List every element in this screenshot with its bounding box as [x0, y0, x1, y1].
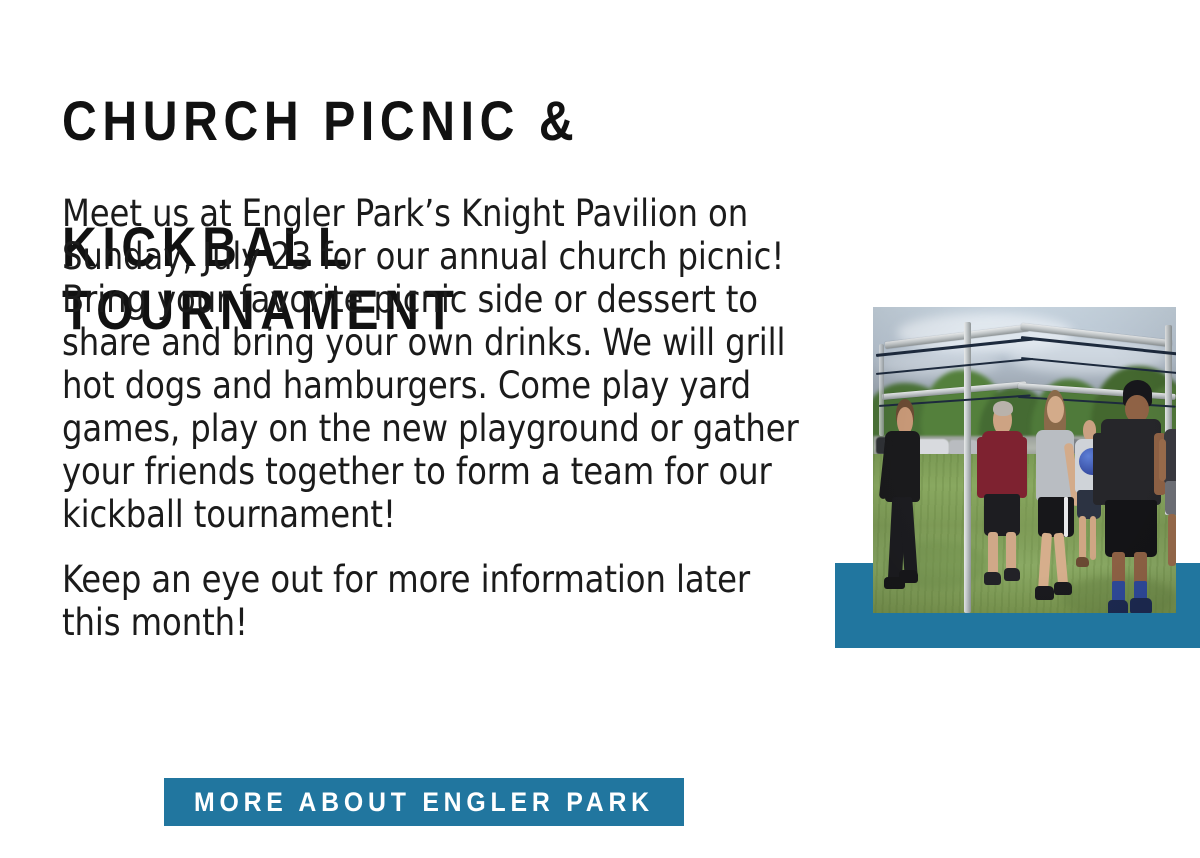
paragraph-event-details: Meet us at Engler Park’s Knight Pavilion… [62, 192, 799, 536]
sandal [1076, 557, 1089, 567]
photo-scene [873, 307, 1176, 613]
hair [993, 401, 1013, 416]
arm [1159, 439, 1166, 482]
sandal [899, 570, 919, 583]
body-copy: Meet us at Engler Park’s Knight Pavilion… [62, 192, 822, 644]
sandal [1054, 582, 1073, 595]
paragraph-followup: Keep an eye out for more information lat… [62, 558, 799, 644]
leg [1038, 532, 1052, 591]
shorts [984, 494, 1020, 536]
more-about-engler-park-button[interactable]: MORE ABOUT ENGLER PARK [164, 778, 684, 826]
shoe [1130, 598, 1152, 613]
torso [1101, 419, 1160, 505]
shoe [984, 572, 1001, 585]
poster-root: CHURCH PICNIC & KICKBALL TOURNAMENT Meet… [0, 0, 1200, 858]
sandal [1035, 586, 1054, 599]
arm [977, 437, 987, 498]
person-woman-black-shirt [876, 399, 952, 613]
leg [1168, 514, 1176, 566]
shoe [1108, 600, 1128, 613]
page-title-line-1: CHURCH PICNIC & [62, 89, 750, 152]
head [1047, 396, 1064, 423]
arm [1093, 433, 1106, 505]
person-edge-right [1161, 429, 1176, 582]
torso [982, 431, 1023, 497]
event-photo [873, 307, 1176, 613]
leg [1079, 516, 1086, 561]
cta-button-label: MORE ABOUT ENGLER PARK [194, 787, 654, 818]
torso [1164, 429, 1176, 484]
shorts [1105, 500, 1158, 557]
shoe [1004, 568, 1021, 581]
shorts [1165, 481, 1176, 515]
leg [988, 532, 998, 576]
